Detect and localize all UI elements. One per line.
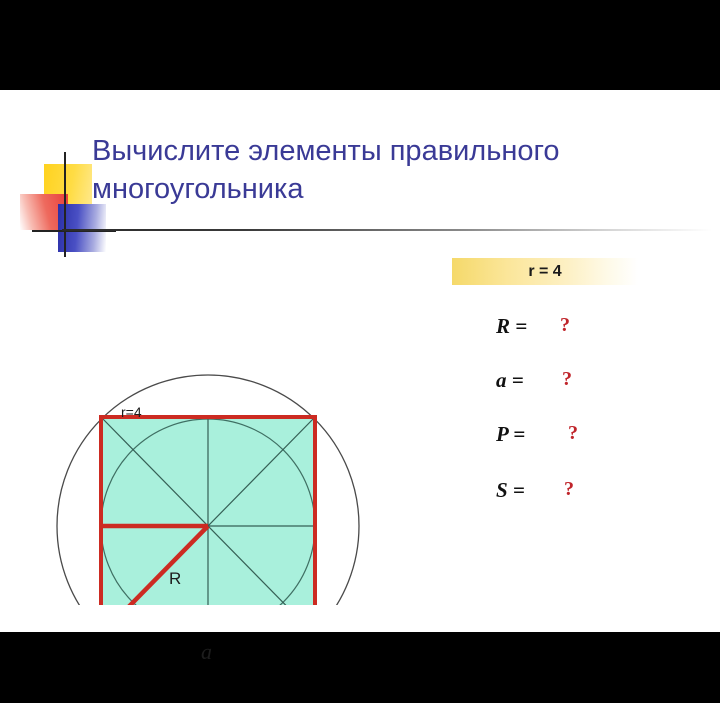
equation-symbol: S = <box>496 478 525 503</box>
equation-value: ? <box>564 478 574 501</box>
title-divider <box>62 229 712 231</box>
slide-stage: Вычислите элементы правильного многоугол… <box>0 0 720 703</box>
letterbox-top <box>0 0 720 90</box>
equation-row-area: S = ? <box>496 478 666 508</box>
given-value-banner: r = 4 <box>452 258 638 285</box>
page-title: Вычислите элементы правильного многоугол… <box>92 132 692 208</box>
equation-symbol: a = <box>496 368 524 393</box>
circumradius-label: R <box>169 569 181 589</box>
answers-panel: r = 4 R = ? a = ? P = ? S = ? <box>452 258 692 578</box>
letterbox-bottom <box>0 632 720 703</box>
equation-row-side: a = ? <box>496 368 666 398</box>
geometry-svg <box>40 275 380 605</box>
equation-value: ? <box>560 314 570 337</box>
given-value-text: r = 4 <box>452 258 638 285</box>
equation-row-circumradius: R = ? <box>496 314 666 344</box>
side-length-label: a <box>201 639 212 665</box>
equation-symbol: R = <box>496 314 527 339</box>
page-title-line-2: многоугольника <box>92 170 692 208</box>
geometry-figure: r=4 R a <box>40 275 380 605</box>
equation-value: ? <box>562 368 572 391</box>
inradius-label: r=4 <box>121 404 142 420</box>
logo-vertical-line <box>64 152 66 257</box>
page-title-line-1: Вычислите элементы правильного <box>92 132 692 170</box>
equation-value: ? <box>568 422 578 445</box>
equation-symbol: P = <box>496 422 525 447</box>
equation-row-perimeter: P = ? <box>496 422 666 452</box>
presentation-slide: Вычислите элементы правильного многоугол… <box>0 90 720 632</box>
